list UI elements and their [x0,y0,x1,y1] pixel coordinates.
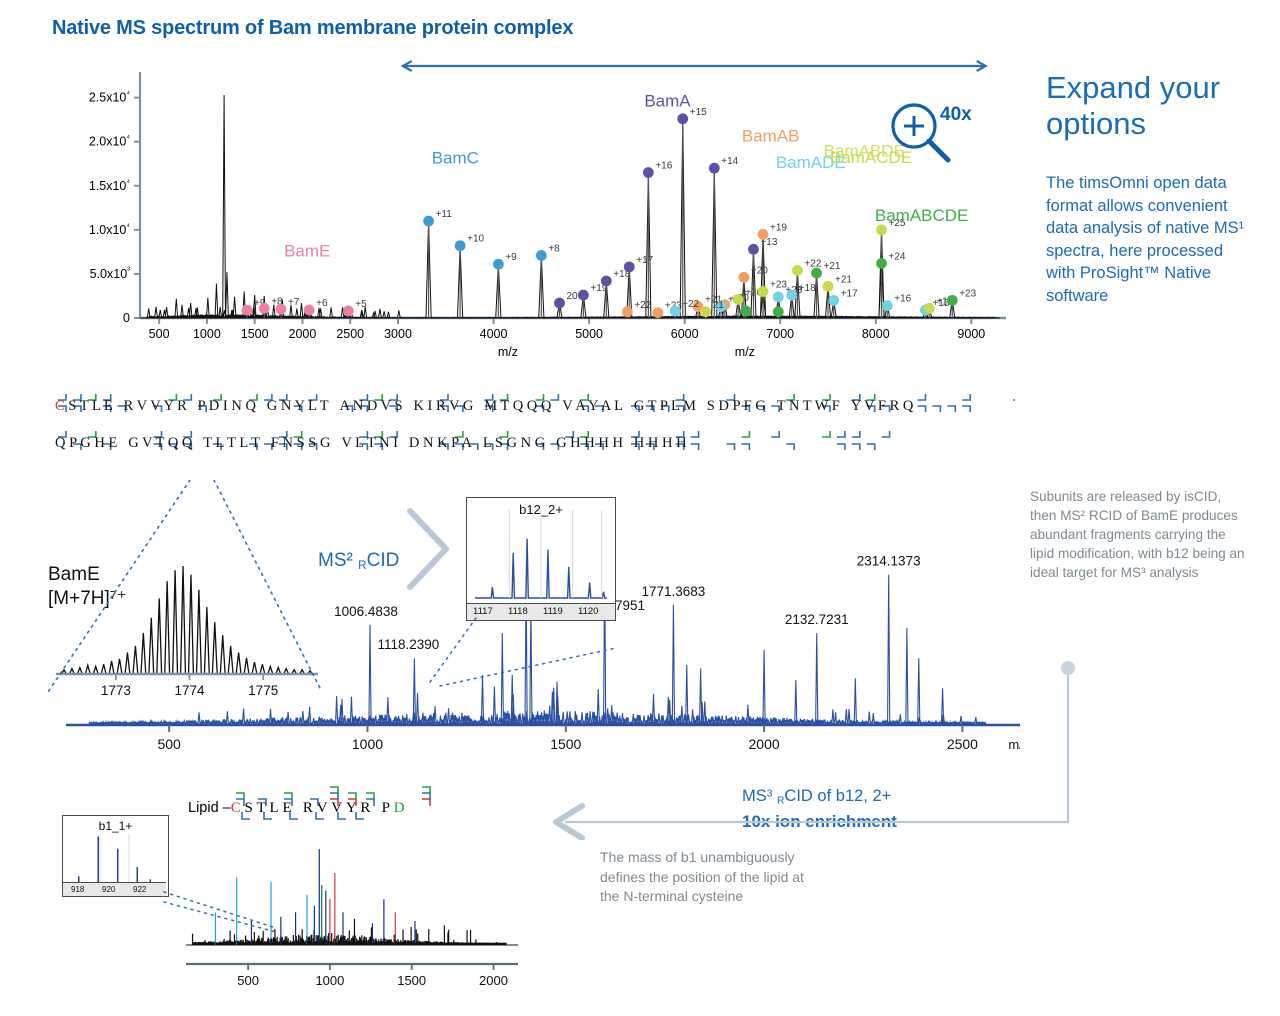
svg-text:500: 500 [149,327,170,341]
svg-text:+19: +19 [770,222,787,233]
svg-text:+18: +18 [799,283,816,294]
rail-heading: Expand your options [1046,70,1276,142]
svg-text:500: 500 [237,973,259,988]
page-title: Native MS spectrum of Bam membrane prote… [52,17,573,40]
svg-text:+17: +17 [841,288,858,299]
svg-text:2132.7231: 2132.7231 [785,612,849,627]
svg-text:20: 20 [566,291,578,302]
svg-text:1000: 1000 [315,973,344,988]
svg-text:+15: +15 [690,107,707,118]
native-ms-species-labels: BamEBamCBamABamABBamADEBamACDEBamABCDEBa… [284,91,968,260]
species-label-bamabcde: BamABCDE [875,206,969,225]
b1-tick: 918 [71,885,84,894]
svg-text:m/z: m/z [498,345,518,359]
svg-text:+17: +17 [636,255,653,266]
svg-text:21: 21 [713,300,725,311]
species-label-bama: BamA [644,91,691,110]
svg-text:1000: 1000 [193,327,221,341]
svg-text:1000: 1000 [352,736,383,752]
svg-text:5000: 5000 [575,327,603,341]
b12-isotope-trace [467,498,613,603]
species-label-bamc: BamC [432,149,479,168]
sequence-row-1: C S T L E R V V Y R P D I N Q G N Y L T … [55,398,913,415]
sequence-map: C S T L E R V V Y R P D I N Q G N Y L T … [55,372,1015,464]
svg-text:+24: +24 [889,251,906,262]
svg-text:0: 0 [123,311,130,325]
svg-text:+11: +11 [436,209,453,220]
b1-inset-axis: 918920922 [63,882,166,896]
svg-text:+16: +16 [894,294,911,305]
svg-text:3000: 3000 [384,327,412,341]
b1-tick: 922 [133,885,146,894]
svg-text:2000: 2000 [479,973,508,988]
svg-text:4000: 4000 [480,327,508,341]
svg-text:500: 500 [157,736,181,752]
magnifier-badge: 40x [888,100,988,172]
lipid-prefix: Lipid – [188,800,231,816]
svg-text:1.5x10⁴: 1.5x10⁴ [89,177,131,193]
b12-inset: b12_2+ 1117111811191120 [466,497,616,621]
svg-text:+23: +23 [770,280,787,291]
svg-text:+8: +8 [548,243,560,254]
svg-text:1500: 1500 [397,973,426,988]
svg-text:+20: +20 [751,265,768,276]
svg-text:+22: +22 [682,299,699,310]
svg-text:1771.3683: 1771.3683 [641,584,705,599]
ms3-callout-connector [520,660,1080,840]
middle-caption-text: Subunits are released by isCID, then MS²… [1030,487,1245,582]
b1-tick: 920 [102,885,115,894]
svg-text:2000: 2000 [289,327,317,341]
svg-text:+22: +22 [634,300,651,311]
ms3-axis: 500100015002000 [180,958,525,998]
svg-text:+9: +9 [505,252,517,263]
svg-text:7000: 7000 [766,327,794,341]
svg-text:2500: 2500 [336,327,364,341]
svg-text:+6: +6 [316,298,328,309]
svg-text:9000: 9000 [957,327,985,341]
svg-text:m/z: m/z [735,345,755,359]
b1-zoom-connector [160,880,280,940]
svg-text:6000: 6000 [671,327,699,341]
svg-text:+7: +7 [288,297,300,308]
native-ms-peak-markers: +9+8+7+6+5+11+10+9+820+19+18+17+16+15+14… [242,107,977,318]
svg-text:+14: +14 [721,156,738,167]
svg-text:8000: 8000 [862,327,890,341]
svg-text:1006.4838: 1006.4838 [334,604,398,619]
sequence-row-2: Q P G H E G V T Q Q T L T L T F N S S G … [55,435,687,452]
svg-text:5.0x10³: 5.0x10³ [90,265,131,281]
species-label-bame: BamE [284,241,330,260]
svg-text:+16: +16 [655,161,672,172]
svg-text:2314.1373: 2314.1373 [857,554,921,569]
species-label-bamab: BamAB [742,127,800,146]
svg-text:+5: +5 [355,299,367,310]
rail-body-text: The timsOmni open data format allows con… [1046,172,1251,307]
native-ms-trace [140,95,1000,318]
svg-text:1.0x10⁴: 1.0x10⁴ [89,221,131,237]
svg-text:+21: +21 [835,274,852,285]
magnifier-label: 40x [940,104,972,126]
svg-text:+22: +22 [804,258,821,269]
b1-inset: b1_1+ 918920922 [62,815,169,897]
lipid-fragment-ticks [228,782,458,830]
ms3-caption-text: The mass of b1 unambiguously defines the… [600,848,825,907]
native-ms-range-arrow [403,61,986,71]
b1-inset-title: b1_1+ [63,819,168,833]
native-ms-spectrum-chart: 05.0x10³1.0x10⁴1.5x10⁴2.0x10⁴2.5x10⁴5001… [0,60,1010,360]
svg-text:2.5x10⁴: 2.5x10⁴ [89,89,131,105]
svg-text:2.0x10⁴: 2.0x10⁴ [89,133,131,149]
svg-text:1500: 1500 [241,327,269,341]
svg-text:+23: +23 [959,288,976,299]
svg-text:+21: +21 [824,261,841,272]
svg-text:+10: +10 [467,234,484,245]
